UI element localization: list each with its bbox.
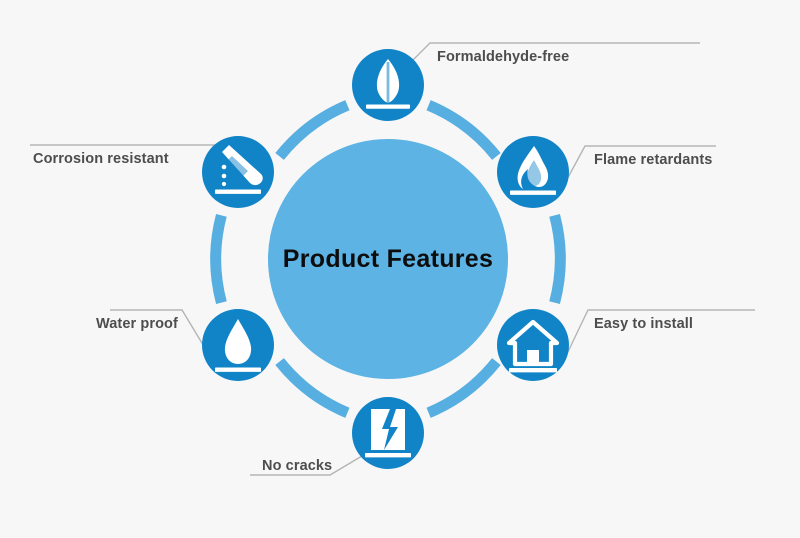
badge-circle-corrosion-resistant[interactable] — [202, 136, 274, 208]
ring-segment-4 — [429, 362, 497, 413]
ring-segment-5 — [280, 362, 348, 413]
feature-label-formaldehyde-free: Formaldehyde-free — [437, 49, 569, 65]
feature-node-water-proof[interactable] — [202, 309, 274, 381]
center-title: Product Features — [238, 245, 538, 274]
ring-segment-3 — [555, 215, 561, 302]
feature-node-easy-to-install[interactable] — [497, 309, 569, 381]
feature-node-no-cracks[interactable] — [352, 397, 424, 469]
ring-segment-1 — [280, 105, 348, 156]
feature-node-formaldehyde-free[interactable] — [352, 49, 424, 121]
feature-label-corrosion-resistant: Corrosion resistant — [33, 151, 169, 167]
feature-label-easy-to-install: Easy to install — [594, 316, 693, 332]
ring-segment-6 — [216, 215, 222, 302]
feature-label-no-cracks: No cracks — [262, 458, 332, 474]
feature-node-flame-retardants[interactable] — [497, 136, 569, 208]
feature-label-flame-retardants: Flame retardants — [594, 152, 712, 168]
feature-label-water-proof: Water proof — [96, 316, 178, 332]
ring-segment-2 — [429, 105, 497, 156]
feature-node-corrosion-resistant[interactable] — [202, 136, 274, 208]
product-features-infographic: Product Features Formaldehyde-free Flame… — [0, 0, 800, 538]
